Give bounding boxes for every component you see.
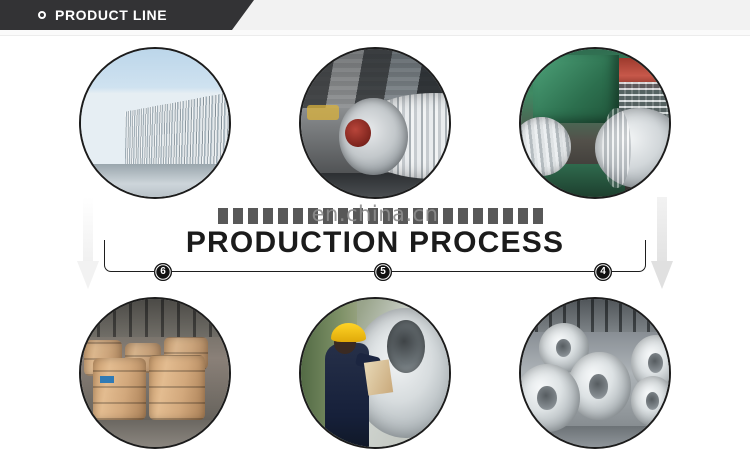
packed-coils-illustration — [81, 299, 229, 447]
coil-mid-right — [631, 376, 671, 426]
site-watermark: en.china.cn — [0, 202, 750, 226]
photo-worker-inspecting-coil[interactable] — [299, 297, 451, 449]
step-marker-5[interactable]: 5 — [374, 263, 392, 281]
mill-yellow-panel — [307, 105, 340, 120]
green-mill-illustration — [521, 49, 669, 197]
step-marker-4[interactable]: 4 — [594, 263, 612, 281]
blue-label-tag — [100, 376, 113, 383]
worker-inspection-illustration — [301, 299, 449, 447]
warehouse-floor — [81, 420, 229, 447]
right-coil — [595, 108, 671, 188]
warehouse-roof — [521, 299, 669, 332]
photo-green-mill-machine[interactable] — [519, 47, 671, 199]
coil-bore — [387, 320, 425, 373]
photo-bare-coils-warehouse[interactable] — [519, 297, 671, 449]
page-title: PRODUCT LINE — [55, 0, 167, 30]
header-underline-strip — [0, 30, 750, 36]
bare-coils-illustration — [521, 299, 669, 447]
ingot-stack-illustration — [81, 49, 229, 197]
packed-coil-front-left — [93, 358, 146, 420]
product-line-page: PRODUCT LINE en.china.cn PRODUCTION PROC… — [0, 0, 750, 455]
photo-packed-coils-warehouse[interactable] — [79, 297, 231, 449]
header-content: PRODUCT LINE — [0, 0, 167, 30]
packed-coil-front-right — [149, 355, 205, 420]
warehouse-roof — [81, 299, 229, 337]
step-marker-6[interactable]: 6 — [154, 263, 172, 281]
header-bar-wedge — [232, 0, 254, 30]
photo-aluminium-ingot-stacks[interactable] — [79, 47, 231, 199]
inspection-paper — [364, 360, 393, 396]
coil-front-left — [519, 364, 580, 432]
coil-mandrel-hub — [345, 119, 370, 147]
ring-dot-icon — [38, 11, 46, 19]
photo-coil-rolling-mill[interactable] — [299, 47, 451, 199]
coil-rolling-mill-illustration — [301, 49, 449, 197]
green-machine-body — [533, 55, 619, 123]
